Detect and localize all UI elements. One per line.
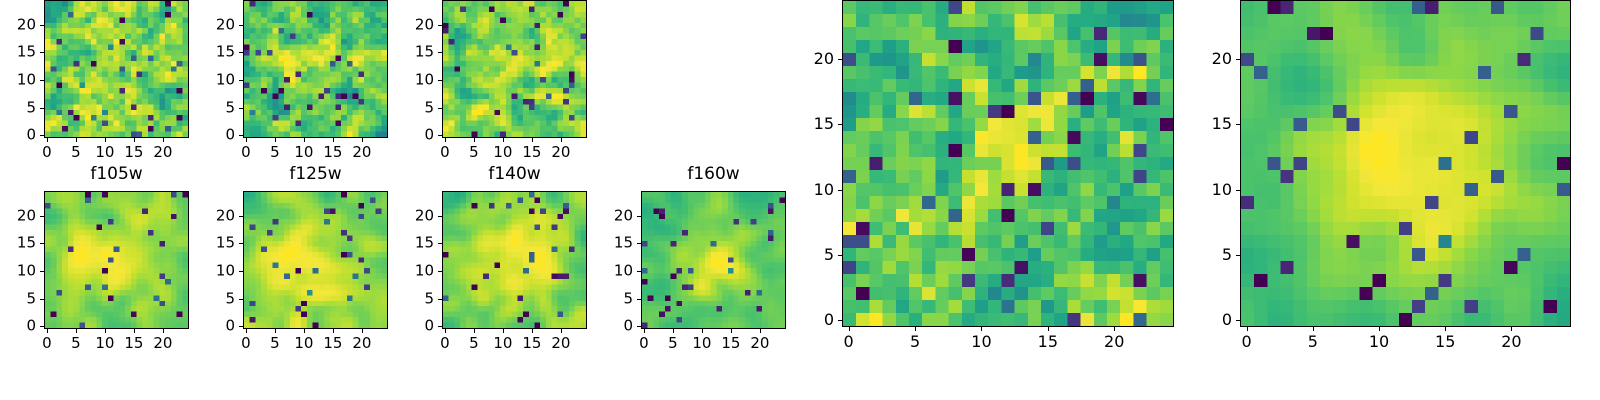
y-tick-label: 0 [798,312,834,328]
x-tick [445,329,446,333]
heatmap-f435w [44,0,189,138]
x-tick-label: 5 [1308,334,1318,350]
y-tick-label: 0 [0,319,36,334]
x-tick [503,329,504,333]
x-tick-label: 10 [1369,334,1389,350]
y-tick-label: 5 [798,247,834,263]
x-tick [445,138,446,142]
y-tick-label: 15 [1196,116,1232,132]
y-tick [239,243,243,244]
y-tick [438,271,442,272]
y-tick-label: 20 [597,208,633,223]
x-tick [163,138,164,142]
panel-f160w: f160w0510152005101520 [597,191,786,369]
heatmap-f606w [243,0,388,138]
y-tick-label: 20 [0,17,36,32]
x-tick-label: 20 [352,336,371,351]
x-tick [1048,327,1049,331]
y-tick-label: 0 [1196,312,1232,328]
panel-wfc3-ir-total: WFC3 IR Total0510152005101520 [1196,0,1571,367]
x-tick [760,329,761,333]
x-tick [246,138,247,142]
heatmap-canvas-f105w [45,192,188,328]
x-tick-label: 0 [241,336,251,351]
y-tick [239,80,243,81]
y-tick-label: 10 [199,264,235,279]
x-tick-label: 15 [124,336,143,351]
y-tick-label: 10 [0,73,36,88]
x-tick [47,138,48,142]
y-tick [40,80,44,81]
x-tick-label: 5 [668,336,678,351]
x-tick [1511,327,1512,331]
y-tick-label: 5 [199,291,235,306]
x-tick [1114,327,1115,331]
y-tick-label: 5 [0,291,36,306]
y-tick-label: 5 [398,291,434,306]
x-tick-label: 10 [493,336,512,351]
x-tick [275,329,276,333]
y-tick [838,255,842,256]
y-tick-label: 10 [199,73,235,88]
y-tick [838,320,842,321]
x-tick [333,329,334,333]
y-tick [239,52,243,53]
y-tick [1236,255,1240,256]
y-tick [838,124,842,125]
y-tick-label: 5 [1196,247,1232,263]
y-tick-label: 5 [597,291,633,306]
x-tick-label: 0 [42,336,52,351]
x-tick-label: 5 [270,145,280,160]
x-tick [561,329,562,333]
x-tick-label: 0 [639,336,649,351]
y-tick [438,326,442,327]
heatmap-f140w [442,191,587,329]
y-tick-label: 15 [597,236,633,251]
panel-title-f125w: f125w [243,166,388,183]
y-tick [438,216,442,217]
x-tick [532,329,533,333]
y-tick-label: 20 [199,208,235,223]
x-tick [673,329,674,333]
y-tick-label: 0 [597,319,633,334]
x-tick-label: 0 [1242,334,1252,350]
y-tick [637,271,641,272]
x-tick [1445,327,1446,331]
y-tick-label: 15 [0,45,36,60]
x-tick-label: 15 [323,145,342,160]
y-tick-label: 15 [199,236,235,251]
y-tick-label: 10 [0,264,36,279]
panel-f814w: f814w0510152005101520 [398,0,587,178]
x-tick [474,329,475,333]
heatmap-canvas-f435w [45,1,188,137]
y-tick [40,299,44,300]
y-tick-label: 0 [199,128,235,143]
x-tick [362,138,363,142]
y-tick [239,135,243,136]
x-tick-label: 15 [721,336,740,351]
x-tick-label: 5 [910,334,920,350]
x-tick-label: 0 [440,336,450,351]
x-tick [134,329,135,333]
y-tick-label: 0 [199,319,235,334]
y-tick [838,59,842,60]
x-tick [362,329,363,333]
heatmap-f160w [641,191,786,329]
x-tick-label: 20 [1501,334,1521,350]
panel-title-f105w: f105w [44,166,189,183]
y-tick [239,299,243,300]
x-tick-label: 15 [522,145,541,160]
x-tick-label: 10 [95,336,114,351]
heatmap-canvas-acs-total [843,1,1173,326]
heatmap-canvas-f140w [443,192,586,328]
x-tick-label: 10 [493,145,512,160]
x-tick-label: 10 [971,334,991,350]
y-tick-label: 0 [398,319,434,334]
panel-f435w: f435w0510152005101520 [0,0,189,178]
heatmap-canvas-f606w [244,1,387,137]
figure-canvas: f435w0510152005101520f606w05101520051015… [0,0,1600,400]
x-tick-label: 5 [270,336,280,351]
x-tick [981,327,982,331]
y-tick [239,326,243,327]
x-tick-label: 15 [1435,334,1455,350]
y-tick-label: 10 [1196,182,1232,198]
x-tick [76,329,77,333]
y-tick-label: 5 [0,100,36,115]
y-tick-label: 15 [398,236,434,251]
x-tick-label: 0 [241,145,251,160]
heatmap-wfc3-ir-total [1240,0,1571,327]
y-tick-label: 20 [1196,51,1232,67]
y-tick [40,326,44,327]
x-tick [1313,327,1314,331]
y-tick [40,108,44,109]
heatmap-f125w [243,191,388,329]
y-tick-label: 15 [398,45,434,60]
x-tick [105,138,106,142]
x-tick-label: 20 [750,336,769,351]
heatmap-f105w [44,191,189,329]
y-tick [438,25,442,26]
y-tick [438,135,442,136]
x-tick [561,138,562,142]
x-tick [1379,327,1380,331]
y-tick [438,108,442,109]
y-tick [40,52,44,53]
x-tick-label: 10 [692,336,711,351]
y-tick [438,80,442,81]
y-tick [40,25,44,26]
y-tick-label: 15 [0,236,36,251]
panel-f125w: f125w0510152005101520 [199,191,388,369]
x-tick-label: 20 [1104,334,1124,350]
y-tick-label: 0 [0,128,36,143]
y-tick [1236,320,1240,321]
x-tick-label: 15 [323,336,342,351]
x-tick-label: 5 [469,336,479,351]
x-tick-label: 0 [440,145,450,160]
x-tick-label: 20 [153,336,172,351]
heatmap-canvas-f814w [443,1,586,137]
y-tick [40,243,44,244]
y-tick [1236,124,1240,125]
x-tick-label: 15 [522,336,541,351]
y-tick [239,108,243,109]
x-tick-label: 20 [352,145,371,160]
y-tick-label: 10 [597,264,633,279]
x-tick [474,138,475,142]
heatmap-f814w [442,0,587,138]
y-tick [239,271,243,272]
y-tick-label: 0 [398,128,434,143]
y-tick-label: 20 [798,51,834,67]
heatmap-acs-total [842,0,1174,327]
y-tick [239,25,243,26]
x-tick [105,329,106,333]
x-tick-label: 10 [294,145,313,160]
y-tick [637,299,641,300]
x-tick-label: 5 [71,336,81,351]
y-tick [1236,59,1240,60]
panel-f140w: f140w0510152005101520 [398,191,587,369]
y-tick-label: 15 [199,45,235,60]
panel-f105w: f105w0510152005101520 [0,191,189,369]
x-tick-label: 20 [551,145,570,160]
y-tick [1236,190,1240,191]
panel-title-f140w: f140w [442,166,587,183]
x-tick [1247,327,1248,331]
x-tick-label: 10 [294,336,313,351]
y-tick [40,216,44,217]
panel-acs-total: ACS Total0510152005101520 [798,0,1174,367]
x-tick [915,327,916,331]
y-tick [40,271,44,272]
y-tick-label: 20 [398,208,434,223]
x-tick [76,138,77,142]
x-tick [532,138,533,142]
y-tick [438,299,442,300]
x-tick [163,329,164,333]
x-tick-label: 0 [42,145,52,160]
x-tick [644,329,645,333]
x-tick [849,327,850,331]
x-tick-label: 5 [71,145,81,160]
y-tick [637,243,641,244]
y-tick-label: 15 [798,116,834,132]
x-tick [333,138,334,142]
heatmap-canvas-f160w [642,192,785,328]
y-tick [438,52,442,53]
y-tick-label: 10 [398,264,434,279]
x-tick-label: 10 [95,145,114,160]
y-tick-label: 20 [199,17,235,32]
y-tick-label: 10 [398,73,434,88]
heatmap-canvas-wfc3-ir-total [1241,1,1570,326]
y-tick [637,326,641,327]
x-tick-label: 0 [844,334,854,350]
heatmap-canvas-f125w [244,192,387,328]
y-tick-label: 5 [199,100,235,115]
y-tick-label: 20 [398,17,434,32]
x-tick [246,329,247,333]
x-tick [503,138,504,142]
x-tick [134,138,135,142]
x-tick [702,329,703,333]
y-tick [838,190,842,191]
x-tick-label: 20 [551,336,570,351]
x-tick [275,138,276,142]
x-tick-label: 15 [124,145,143,160]
y-tick-label: 5 [398,100,434,115]
y-tick [438,243,442,244]
y-tick-label: 10 [798,182,834,198]
y-tick [40,135,44,136]
panel-title-f160w: f160w [641,166,786,183]
x-tick-label: 5 [469,145,479,160]
x-tick [47,329,48,333]
y-tick [637,216,641,217]
x-tick-label: 15 [1038,334,1058,350]
panel-f606w: f606w0510152005101520 [199,0,388,178]
x-tick [304,138,305,142]
x-tick [731,329,732,333]
y-tick-label: 20 [0,208,36,223]
x-tick [304,329,305,333]
y-tick [239,216,243,217]
x-tick-label: 20 [153,145,172,160]
